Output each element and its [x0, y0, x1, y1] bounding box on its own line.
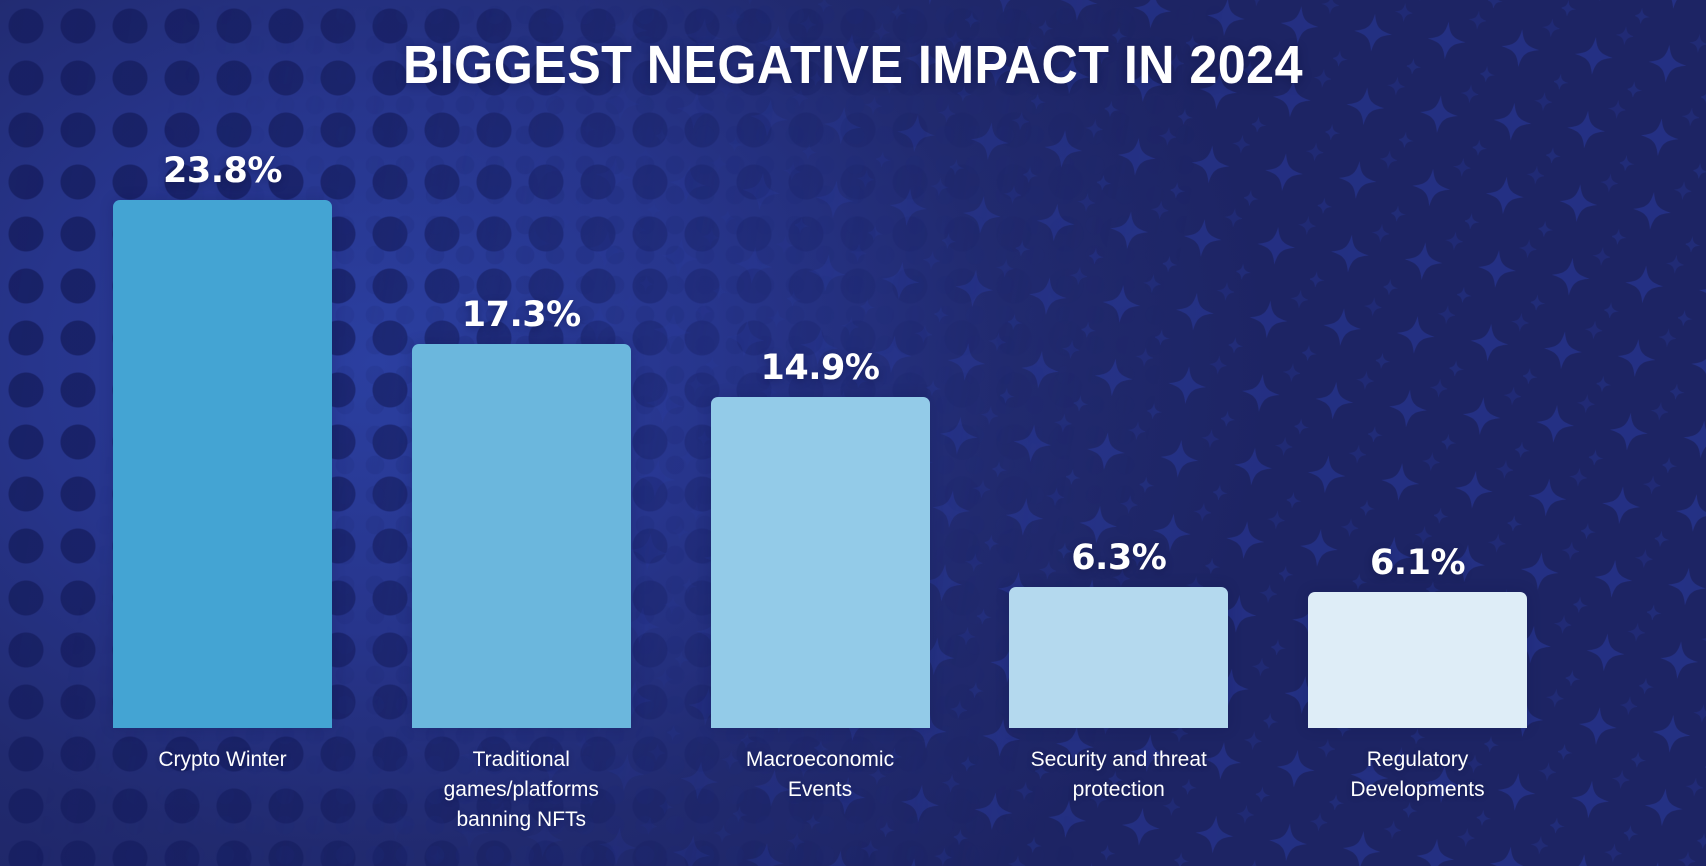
page-title: BIGGEST NEGATIVE IMPACT IN 2024 [60, 34, 1647, 96]
x-label-traditional-games-platforms-banning-nfts: Traditional games/platforms banning NFTs [384, 745, 659, 835]
x-label-macroeconomic-events: Macroeconomic Events [683, 745, 958, 835]
bar-traditional-games-platforms-banning-nfts[interactable] [412, 344, 631, 728]
bar-regulatory-developments[interactable] [1308, 592, 1527, 728]
bar-value-label: 6.1% [1370, 543, 1465, 583]
bar-value-label: 14.9% [761, 348, 880, 388]
x-axis-category-labels: Crypto Winter Traditional games/platform… [85, 745, 1555, 835]
bar-value-label: 6.3% [1071, 538, 1166, 578]
bar-column-security-and-threat-protection: 6.3% [981, 120, 1256, 728]
bar-plot-area: 23.8% 17.3% 14.9% 6.3% 6.1% [85, 120, 1555, 728]
bar-value-label: 17.3% [462, 295, 581, 335]
bar-column-crypto-winter: 23.8% [85, 120, 360, 728]
bar-column-macroeconomic-events: 14.9% [683, 120, 958, 728]
bar-value-label: 23.8% [163, 151, 282, 191]
x-label-regulatory-developments: Regulatory Developments [1280, 745, 1555, 835]
bar-column-regulatory-developments: 6.1% [1280, 120, 1555, 728]
x-label-crypto-winter: Crypto Winter [85, 745, 360, 835]
bar-column-traditional-games-platforms-banning-nfts: 17.3% [384, 120, 659, 728]
x-label-security-and-threat-protection: Security and threat protection [981, 745, 1256, 835]
bar-crypto-winter[interactable] [113, 200, 332, 728]
bar-macroeconomic-events[interactable] [711, 397, 930, 728]
bar-security-and-threat-protection[interactable] [1009, 587, 1228, 728]
bar-chart: 23.8% 17.3% 14.9% 6.3% 6.1% [85, 120, 1555, 730]
infographic-canvas: BIGGEST NEGATIVE IMPACT IN 2024 23.8% 17… [0, 0, 1706, 866]
